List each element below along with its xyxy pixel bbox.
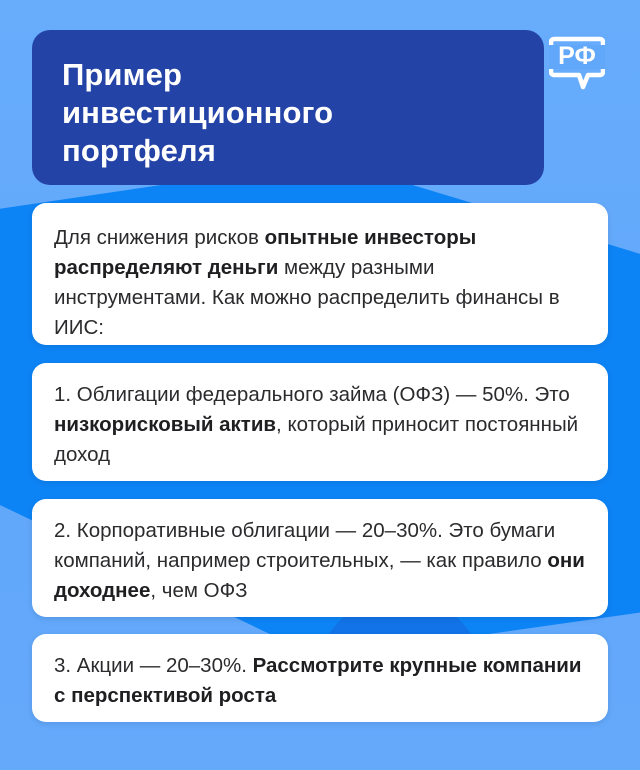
rf-speech-bubble-logo-icon: РФ bbox=[549, 30, 605, 92]
card-item-3-text: 3. Акции — 20–30%. Рассмотрите крупные к… bbox=[54, 651, 586, 711]
card-item-3: 3. Акции — 20–30%. Рассмотрите крупные к… bbox=[32, 634, 608, 722]
rf-logo-text: РФ bbox=[558, 42, 596, 70]
card-item-2: 2. Корпоративные облигации — 20–30%. Это… bbox=[32, 499, 608, 617]
card-item-1: 1. Облигации федерального займа (ОФЗ) — … bbox=[32, 363, 608, 481]
card-intro: Для снижения рисков опытные инвесторы ра… bbox=[32, 203, 608, 345]
card-item-2-text: 2. Корпоративные облигации — 20–30%. Это… bbox=[54, 516, 586, 606]
card-intro-text: Для снижения рисков опытные инвесторы ра… bbox=[54, 223, 586, 343]
poster-root: Пример инвестиционного портфеля РФ Для с… bbox=[0, 0, 640, 770]
page-title: Пример инвестиционного портфеля bbox=[62, 56, 514, 170]
card-item-1-text: 1. Облигации федерального займа (ОФЗ) — … bbox=[54, 380, 586, 470]
header-card: Пример инвестиционного портфеля bbox=[32, 30, 544, 185]
